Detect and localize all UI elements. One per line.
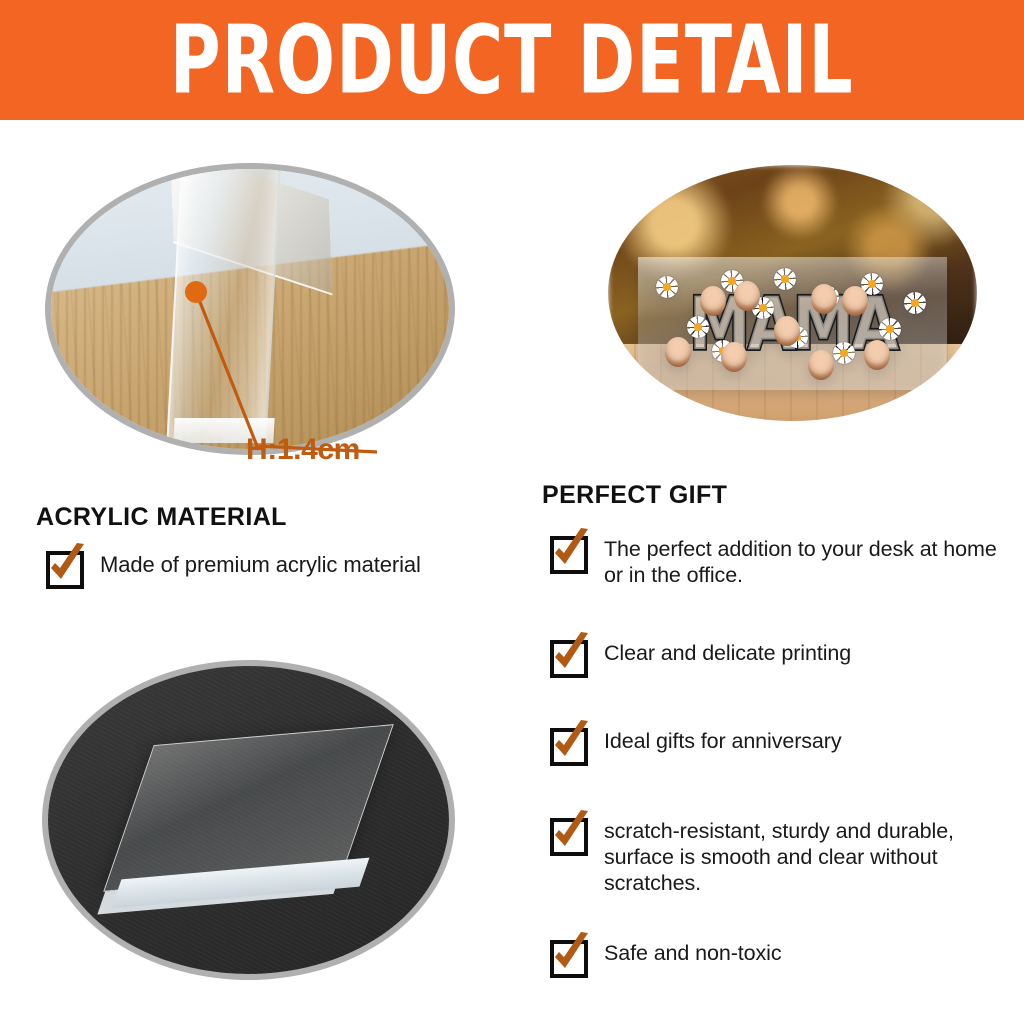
page-title: PRODUCT DETAIL (170, 13, 854, 107)
feature-item: scratch-resistant, sturdy and durable, s… (548, 810, 1004, 896)
section-heading-perfect-gift: PERFECT GIFT (542, 481, 727, 510)
checkmark-checkbox-icon (548, 810, 594, 856)
face-photo (665, 337, 691, 367)
feature-text: Clear and delicate printing (594, 632, 851, 666)
face-photo (734, 281, 760, 311)
feature-list-perfect-gift: The perfect addition to your desk at hom… (548, 528, 1004, 978)
face-photo (774, 316, 800, 346)
mama-product-scene: MAMA (608, 165, 977, 421)
checkmark-checkbox-icon (548, 632, 594, 678)
feature-item: Clear and delicate printing (548, 632, 1004, 678)
daisy-icon (656, 276, 678, 298)
feature-text: Ideal gifts for anniversary (594, 720, 842, 754)
feature-item: Ideal gifts for anniversary (548, 720, 1004, 766)
section-heading-acrylic-material: ACRYLIC MATERIAL (36, 503, 287, 532)
daisy-icon (774, 268, 796, 290)
feature-text: The perfect addition to your desk at hom… (594, 528, 1004, 588)
feature-text: Safe and non-toxic (594, 932, 782, 966)
mama-product-photo: MAMA (608, 165, 977, 421)
checkmark-checkbox-icon (44, 543, 90, 589)
face-photo (864, 340, 890, 370)
checkmark-checkbox-icon (548, 720, 594, 766)
header-banner: PRODUCT DETAIL (0, 0, 1024, 120)
daisy-icon (687, 316, 709, 338)
feature-item: Safe and non-toxic (548, 932, 1004, 978)
face-photo (721, 342, 747, 372)
daisy-icon (879, 318, 901, 340)
daisy-icon (833, 342, 855, 364)
feature-text: scratch-resistant, sturdy and durable, s… (594, 810, 1004, 896)
daisy-icon (904, 292, 926, 314)
feature-list-acrylic-material: Made of premium acrylic material (44, 543, 514, 589)
feature-text: Made of premium acrylic material (90, 543, 421, 578)
face-photo (811, 284, 837, 314)
dimension-label: H:1.4cm (246, 433, 360, 467)
feature-item: Made of premium acrylic material (44, 543, 514, 589)
checkmark-checkbox-icon (548, 932, 594, 978)
mama-plaque: MAMA (638, 257, 948, 390)
acrylic-block-photo (42, 660, 455, 980)
checkmark-checkbox-icon (548, 528, 594, 574)
face-photo (808, 350, 834, 380)
acrylic-block-scene (48, 666, 449, 974)
feature-item: The perfect addition to your desk at hom… (548, 528, 1004, 588)
face-photo (700, 286, 726, 316)
